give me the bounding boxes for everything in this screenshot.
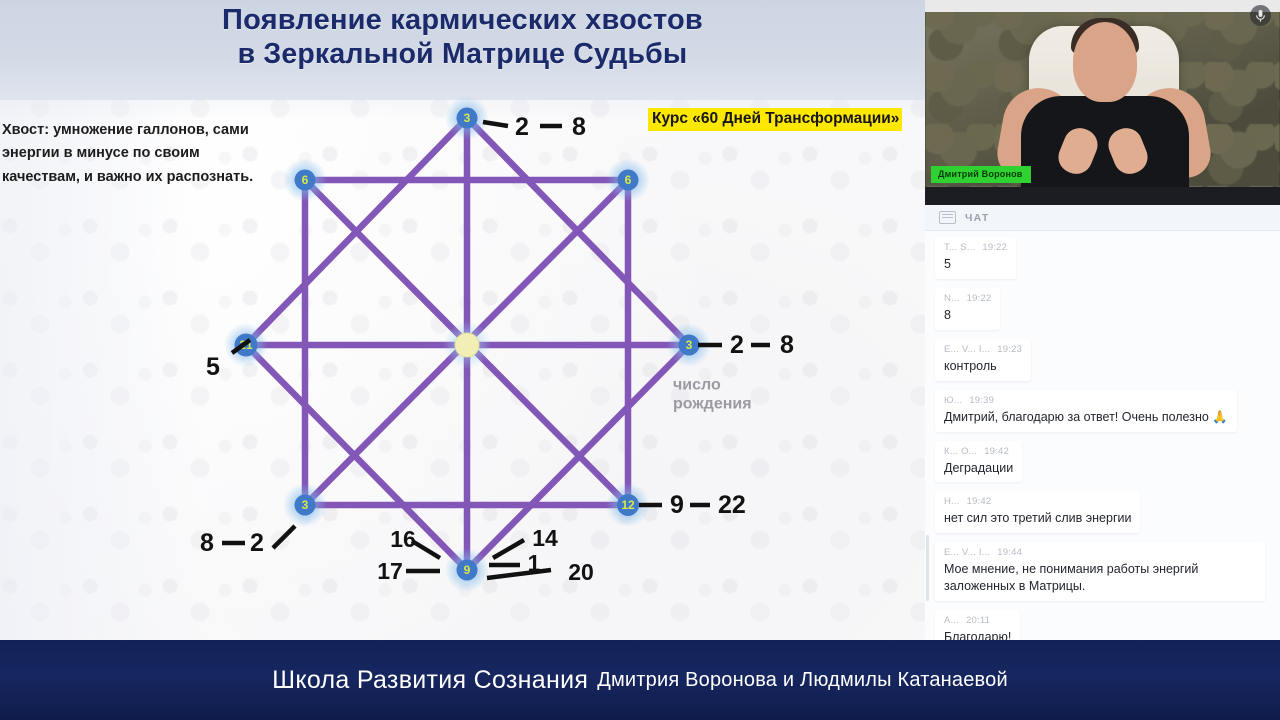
chat-message-meta: N...19:22 <box>944 293 991 304</box>
annot-bottom-14: 14 <box>532 525 558 551</box>
chat-message-bubble: Н...19:42нет сил это третий слив энергии <box>935 491 1140 533</box>
chat-message-meta: E... V... I...19:44 <box>944 547 1256 558</box>
node-label-bottom: 9 <box>464 563 471 577</box>
chat-message-text: 8 <box>944 307 991 324</box>
chat-message-time: 20:11 <box>966 615 990 626</box>
chat-message: E... V... I...19:44Мое мнение, не понима… <box>935 542 1270 610</box>
chat-header: ЧАТ <box>925 205 1280 231</box>
node-label-bottom-left: 3 <box>302 498 309 512</box>
bottom-banner: Школа Развития Сознания Дмитрия Воронова… <box>0 640 1280 720</box>
annot-bl-2: 2 <box>250 529 264 557</box>
annot-left-5: 5 <box>206 353 220 381</box>
chat-message-author: N... <box>944 293 960 304</box>
node-label-top: 3 <box>464 111 471 125</box>
matrix-of-destiny-diagram: 3 6 6 21 3 3 12 9 <box>0 0 925 640</box>
birth-number-label: число рождения <box>673 377 752 413</box>
annot-bottom-17: 17 <box>377 558 403 584</box>
speaker-name-badge: Дмитрий Воронов <box>931 166 1031 183</box>
annot-bottom-16: 16 <box>390 526 416 552</box>
annot-right-8: 8 <box>780 331 794 359</box>
chat-message-author: Н... <box>944 496 960 507</box>
banner-main-text: Школа Развития Сознания <box>272 666 588 695</box>
speaker-head <box>1073 22 1137 102</box>
chat-message-time: 19:22 <box>967 293 992 304</box>
microphone-icon[interactable] <box>1250 5 1271 26</box>
birth-label-line1: число <box>673 377 721 394</box>
chat-message-bubble: E... V... I...19:44Мое мнение, не понима… <box>935 542 1265 601</box>
node-label-right: 3 <box>686 338 693 352</box>
chat-message: N...19:228 <box>935 288 1270 339</box>
banner-sub-text: Дмитрия Воронова и Людмилы Катанаевой <box>597 669 1008 692</box>
chat-message-text: Благодарю! <box>944 629 1011 640</box>
chat-message-meta: Н...19:42 <box>944 496 1131 507</box>
chat-message-bubble: T... S...19:225 <box>935 237 1016 279</box>
chat-message-text: Деградации <box>944 460 1013 477</box>
chat-message-time: 19:42 <box>984 446 1009 457</box>
right-panel: Дмитрий Воронов ЧАТ T... S...19:225N...1… <box>925 0 1280 720</box>
annot-bottom-1: 1 <box>528 550 541 576</box>
annot-br-9: 9 <box>670 491 684 519</box>
chat-message-bubble: N...19:228 <box>935 288 1000 330</box>
chat-message-time: 19:22 <box>982 242 1007 253</box>
chat-message: T... S...19:225 <box>935 237 1270 288</box>
node-label-top-right: 6 <box>625 173 632 187</box>
chat-message-author: К... О... <box>944 446 977 457</box>
chat-message-author: E... V... I... <box>944 344 990 355</box>
chat-message-text: Дмитрий, благодарю за ответ! Очень полез… <box>944 409 1228 426</box>
chat-message-bubble: E... V... I...19:23контроль <box>935 339 1031 381</box>
chat-message-time: 19:42 <box>967 496 992 507</box>
chat-message-author: А... <box>944 615 959 626</box>
chat-message-meta: T... S...19:22 <box>944 242 1007 253</box>
annot-right-2: 2 <box>730 331 744 359</box>
chat-message: А...20:11Благодарю! <box>935 610 1270 640</box>
annot-bottom-20: 20 <box>568 559 594 585</box>
annot-top-2: 2 <box>515 113 529 141</box>
chat-message-time: 19:23 <box>997 344 1022 355</box>
chat-message-emoji: 🙏 <box>1209 410 1228 424</box>
annot-br-22: 22 <box>718 491 746 519</box>
chat-message-text: контроль <box>944 358 1022 375</box>
chat-message-meta: К... О...19:42 <box>944 446 1013 457</box>
chat-panel: ЧАТ T... S...19:225N...19:228E... V... I… <box>925 205 1280 640</box>
chat-message-bubble: Ю...19:39Дмитрий, благодарю за ответ! Оч… <box>935 390 1237 432</box>
chat-message: E... V... I...19:23контроль <box>935 339 1270 390</box>
chat-message: К... О...19:42Деградации <box>935 441 1270 492</box>
presentation-slide: Появление кармических хвостов в Зеркальн… <box>0 0 925 640</box>
chat-scrollbar[interactable] <box>926 535 929 601</box>
birth-label-line2: рождения <box>673 396 752 413</box>
chat-message: Ю...19:39Дмитрий, благодарю за ответ! Оч… <box>935 390 1270 441</box>
chat-message-text: нет сил это третий слив энергии <box>944 510 1131 527</box>
chat-message-meta: Ю...19:39 <box>944 395 1228 406</box>
chat-message-author: Ю... <box>944 395 962 406</box>
video-feed[interactable]: Дмитрий Воронов <box>925 0 1280 205</box>
chat-message-list[interactable]: T... S...19:225N...19:228E... V... I...1… <box>925 231 1280 640</box>
chat-message-author: T... S... <box>944 242 975 253</box>
chat-message-meta: А...20:11 <box>944 615 1011 626</box>
node-label-top-left: 6 <box>302 173 309 187</box>
chat-header-label: ЧАТ <box>965 212 989 224</box>
node-label-bottom-right: 12 <box>621 498 635 512</box>
video-bottom-bar <box>925 187 1280 205</box>
chat-message-author: E... V... I... <box>944 547 990 558</box>
chat-message-time: 19:39 <box>969 395 994 406</box>
chat-message: Н...19:42нет сил это третий слив энергии <box>935 491 1270 542</box>
video-top-strip <box>925 0 1280 12</box>
chat-message-bubble: К... О...19:42Деградации <box>935 441 1022 483</box>
chat-icon <box>939 211 956 224</box>
chat-message-meta: E... V... I...19:23 <box>944 344 1022 355</box>
chat-message-text: Мое мнение, не понимания работы энергий … <box>944 561 1256 595</box>
annot-top-8: 8 <box>572 113 586 141</box>
chat-message-bubble: А...20:11Благодарю! <box>935 610 1020 640</box>
chat-message-text: 5 <box>944 256 1007 273</box>
chat-message-time: 19:44 <box>997 547 1022 558</box>
annot-bl-8: 8 <box>200 529 214 557</box>
